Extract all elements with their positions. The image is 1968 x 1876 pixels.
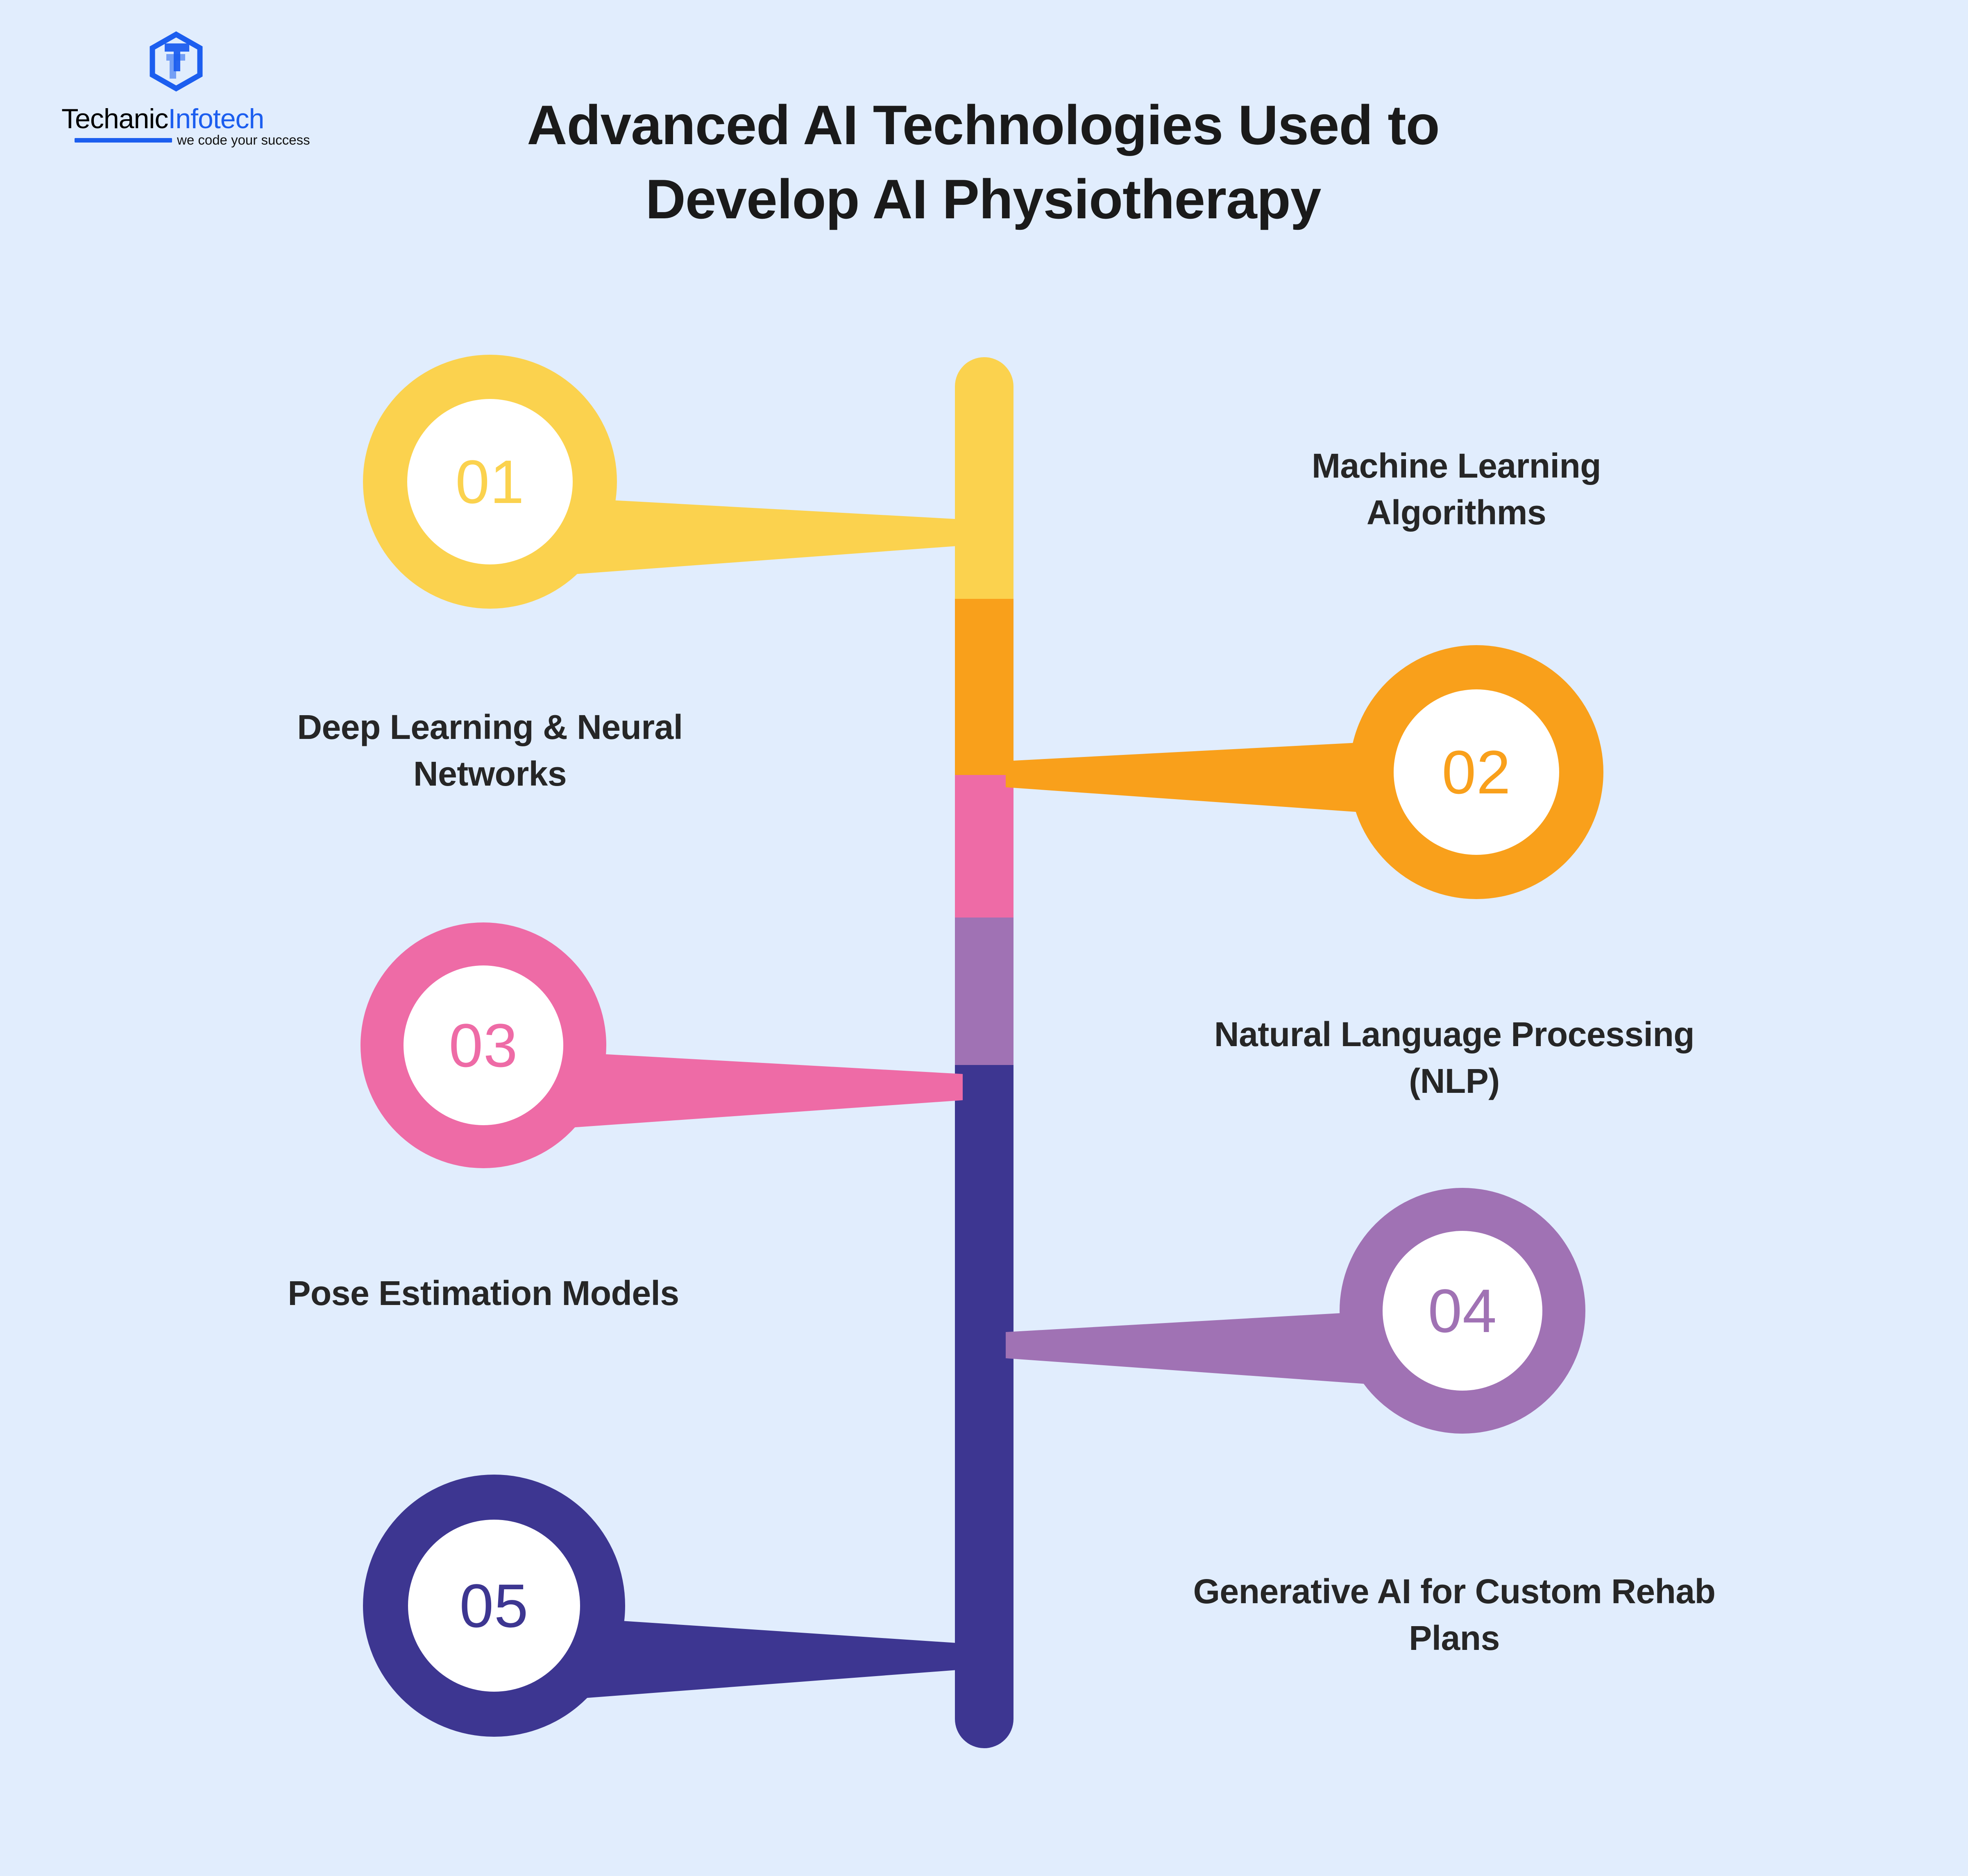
step-circle-03[interactable]: 03 xyxy=(360,922,606,1168)
step-number-04: 04 xyxy=(1428,1280,1497,1341)
infographic-canvas: TechanicInfotech we code your success Ad… xyxy=(0,0,1968,1876)
step-circle-inner-03: 03 xyxy=(404,965,563,1125)
step-label-05: Generative AI for Custom Rehab Plans xyxy=(1188,1568,1721,1661)
step-label-04: Natural Language Processing (NLP) xyxy=(1213,1011,1696,1104)
step-label-02: Machine Learning Algorithms xyxy=(1221,442,1692,536)
step-number-01: 01 xyxy=(456,451,525,512)
brand-logo[interactable]: TechanicInfotech we code your success xyxy=(61,29,291,156)
column-segment-04 xyxy=(955,918,1013,1065)
step-circle-inner-02: 02 xyxy=(1394,689,1559,855)
step-number-02: 02 xyxy=(1442,741,1511,803)
column-segment-05 xyxy=(955,1065,1013,1748)
step-circle-inner-05: 05 xyxy=(408,1520,580,1692)
central-timeline-column xyxy=(955,357,1013,1748)
step-circle-05[interactable]: 05 xyxy=(363,1475,625,1737)
logo-wordmark: TechanicInfotech xyxy=(61,104,291,133)
step-number-03: 03 xyxy=(449,1015,518,1076)
column-segment-02 xyxy=(955,599,1013,775)
logo-name-part-1: Techanic xyxy=(61,103,168,134)
page-title: Advanced AI Technologies Used to Develop… xyxy=(369,88,1598,236)
column-segment-01 xyxy=(955,357,1013,599)
step-circle-04[interactable]: 04 xyxy=(1340,1188,1585,1434)
logo-underline xyxy=(75,138,172,143)
cube-logo-icon xyxy=(143,29,209,94)
step-number-05: 05 xyxy=(460,1575,529,1636)
page-title-line-2: Develop AI Physiotherapy xyxy=(369,162,1598,236)
page-title-line-1: Advanced AI Technologies Used to xyxy=(369,88,1598,162)
step-label-03: Pose Estimation Models xyxy=(262,1270,705,1316)
step-label-01: Deep Learning & Neural Networks xyxy=(232,704,748,797)
logo-tagline: we code your success xyxy=(177,132,310,148)
step-circle-02[interactable]: 02 xyxy=(1349,645,1603,899)
column-segment-03 xyxy=(955,775,1013,918)
step-circle-inner-01: 01 xyxy=(407,399,573,564)
logo-name-part-2: Infotech xyxy=(168,103,264,134)
step-circle-inner-04: 04 xyxy=(1383,1231,1542,1391)
step-circle-01[interactable]: 01 xyxy=(363,355,617,609)
